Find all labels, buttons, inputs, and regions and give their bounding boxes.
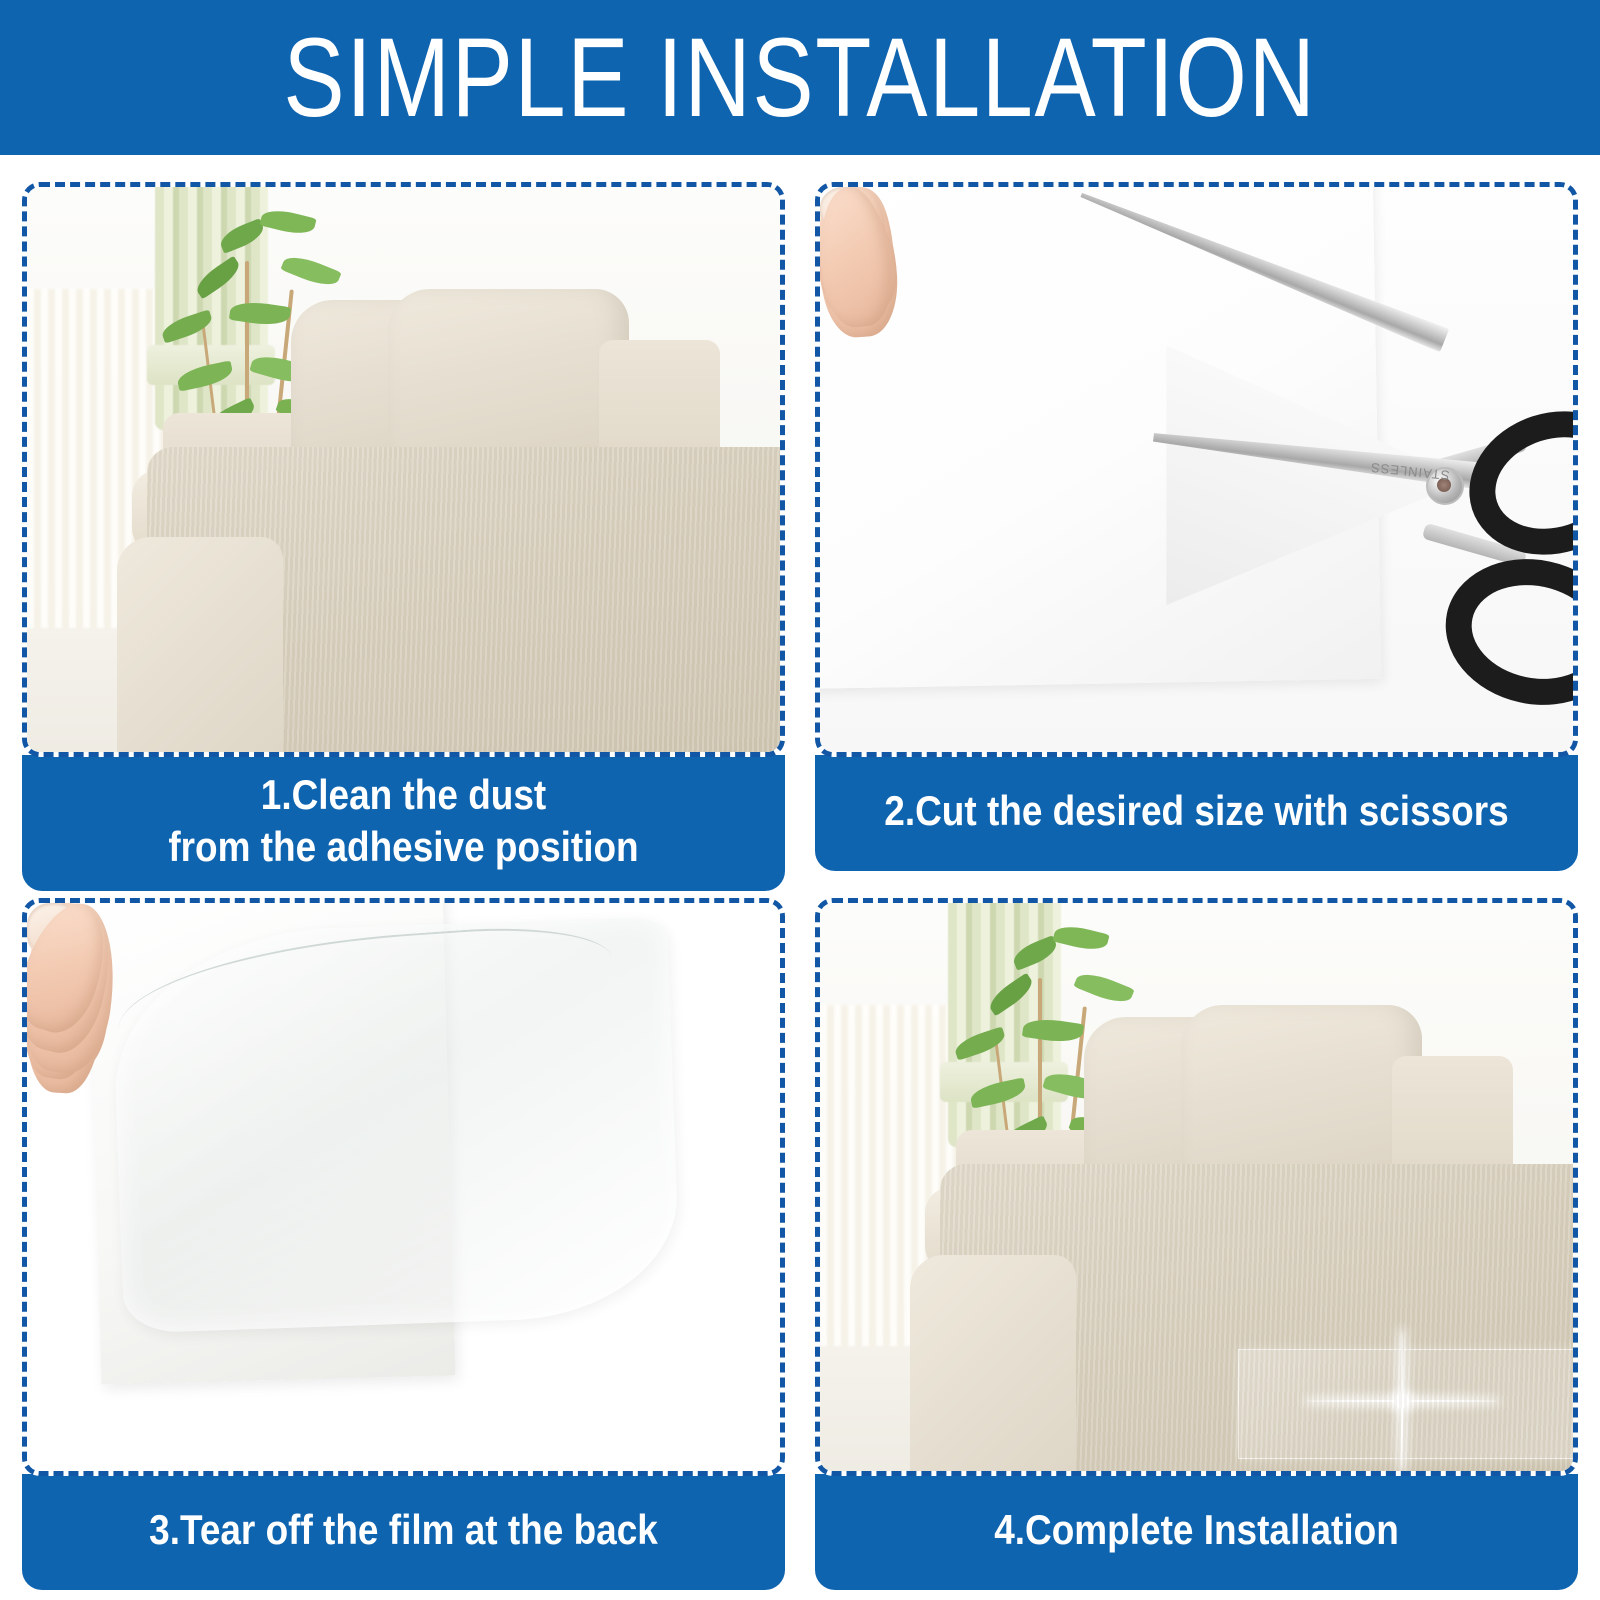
step-1-caption: 1.Clean the dust from the adhesive posit… bbox=[22, 755, 785, 891]
step-1-caption-line-1: 1.Clean the dust bbox=[77, 769, 731, 821]
header-banner: SIMPLE INSTALLATION bbox=[0, 0, 1600, 155]
step-3-photo bbox=[22, 898, 785, 1476]
step-4-caption-line-1: 4.Complete Installation bbox=[870, 1504, 1524, 1556]
step-2-caption-line-1: 2.Cut the desired size with scissors bbox=[870, 785, 1524, 837]
step-1-caption-line-2: from the adhesive position bbox=[77, 821, 731, 873]
step-4-caption: 4.Complete Installation bbox=[815, 1474, 1578, 1590]
steps-grid: 1.Clean the dust from the adhesive posit… bbox=[0, 155, 1600, 1600]
step-card-2: STAINLESS 2. bbox=[815, 182, 1578, 871]
step-card-4: 4.Complete Installation bbox=[815, 898, 1578, 1590]
step-4-photo bbox=[815, 898, 1578, 1476]
step-1-photo bbox=[22, 182, 785, 757]
step-3-caption: 3.Tear off the film at the back bbox=[22, 1474, 785, 1590]
step-2-caption: 2.Cut the desired size with scissors bbox=[815, 755, 1578, 871]
step-3-caption-line-1: 3.Tear off the film at the back bbox=[77, 1504, 731, 1556]
sofa-front-armrest bbox=[910, 1255, 1076, 1476]
sofa-front-armrest bbox=[117, 537, 283, 757]
living-room-scene bbox=[27, 187, 780, 752]
sparkle-icon bbox=[1402, 1401, 1404, 1403]
infographic-page: SIMPLE INSTALLATION bbox=[0, 0, 1600, 1600]
step-2-photo: STAINLESS bbox=[815, 182, 1578, 757]
step-card-3: 3.Tear off the film at the back bbox=[22, 898, 785, 1590]
step-card-1: 1.Clean the dust from the adhesive posit… bbox=[22, 182, 785, 891]
living-room-scene-installed bbox=[820, 903, 1573, 1471]
installed-film-patch bbox=[1238, 1349, 1578, 1460]
page-title: SIMPLE INSTALLATION bbox=[283, 22, 1316, 134]
